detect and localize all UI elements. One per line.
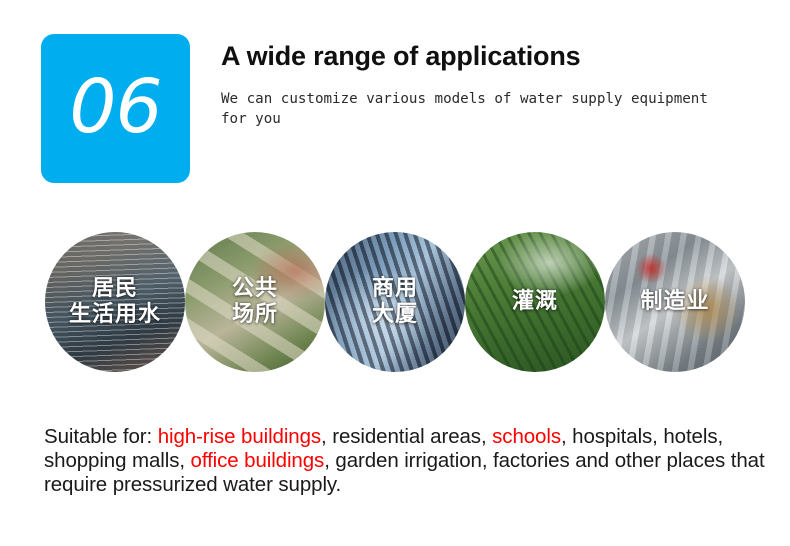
commercial-building-circle[interactable]: 商用 大厦 <box>325 232 465 372</box>
summary-highlight: office buildings <box>191 449 325 472</box>
summary-highlight: high-rise buildings <box>158 425 321 448</box>
page-subtitle: We can customize various models of water… <box>221 89 721 129</box>
application-label: 灌溉 <box>512 289 558 315</box>
summary-highlight: schools <box>492 425 561 448</box>
section-number-label: 06 <box>69 70 161 144</box>
summary-paragraph: Suitable for: high-rise buildings, resid… <box>44 425 788 497</box>
application-label: 居民 生活用水 <box>69 276 161 328</box>
applications-band: 居民 生活用水公共 场所商用 大厦灌溉制造业 <box>45 232 745 372</box>
section-number-badge: 06 <box>41 34 190 183</box>
irrigation-circle[interactable]: 灌溉 <box>465 232 605 372</box>
residential-water-circle[interactable]: 居民 生活用水 <box>45 232 185 372</box>
header-section: 06 A wide range of applications We can c… <box>41 34 749 186</box>
summary-text-run: , residential areas, <box>321 425 492 448</box>
manufacturing-circle[interactable]: 制造业 <box>605 232 745 372</box>
application-label: 商用 大厦 <box>372 276 418 328</box>
summary-text-run: Suitable for: <box>44 425 158 448</box>
application-label: 公共 场所 <box>232 276 278 328</box>
public-places-circle[interactable]: 公共 场所 <box>185 232 325 372</box>
header-text-block: A wide range of applications We can cust… <box>221 42 749 129</box>
application-label: 制造业 <box>640 289 709 315</box>
page-title: A wide range of applications <box>221 42 749 72</box>
